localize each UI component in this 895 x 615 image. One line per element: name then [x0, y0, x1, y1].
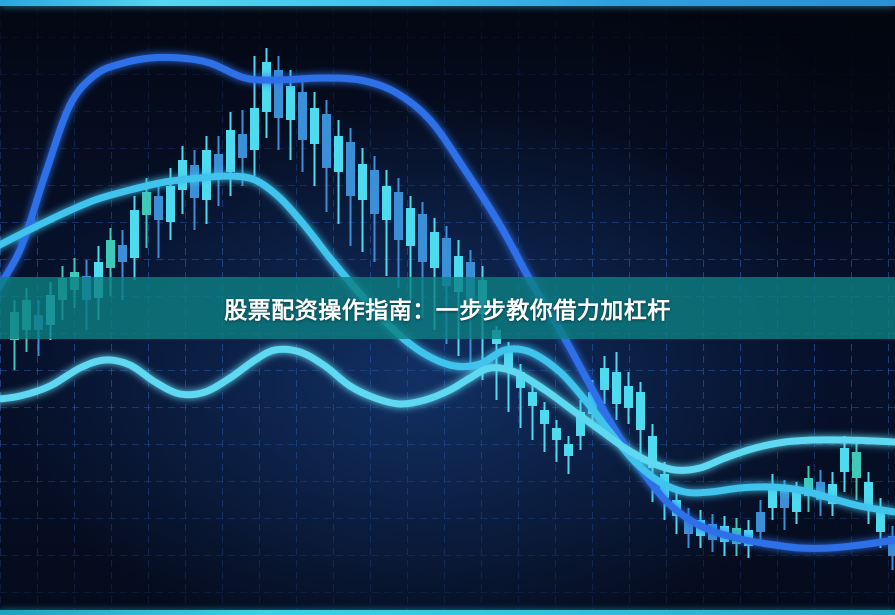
candle-body: [166, 186, 175, 222]
candle-body: [528, 392, 537, 406]
candle-wick: [544, 402, 546, 452]
candle-body: [322, 114, 331, 168]
candle-body: [262, 62, 271, 112]
candle-body: [370, 170, 379, 214]
candle-body: [852, 452, 861, 478]
candle-body: [864, 482, 873, 506]
candle-body: [310, 108, 319, 144]
page-title: 股票配资操作指南：一步步教你借力加杠杆: [224, 291, 671, 325]
candle-body: [600, 368, 609, 390]
candle-body: [792, 492, 801, 512]
candle-body: [840, 448, 849, 472]
candle-body: [118, 245, 127, 262]
candle-body: [238, 134, 247, 158]
candle-body: [106, 240, 115, 268]
candle-body: [624, 386, 633, 408]
candle-body: [358, 164, 367, 200]
candle-body: [178, 160, 187, 190]
candle-body: [130, 210, 139, 258]
title-band: 股票配资操作指南：一步步教你借力加杠杆: [0, 277, 895, 339]
candle-body: [142, 192, 151, 215]
candle-body: [250, 108, 259, 150]
candle-body: [226, 130, 235, 172]
candle-body: [286, 86, 295, 120]
candle-body: [334, 136, 343, 172]
candle-body: [612, 372, 621, 404]
candle-body: [406, 208, 415, 246]
candle-body: [418, 214, 427, 262]
candle-body: [756, 512, 765, 532]
candle-body: [346, 142, 355, 196]
bottom-accent-bar: [0, 610, 895, 615]
candle-body: [540, 410, 549, 424]
top-accent-bar: [0, 0, 895, 6]
candle-body: [780, 490, 789, 508]
candle-body: [430, 232, 439, 268]
candle-body: [382, 186, 391, 220]
candle-body: [564, 444, 573, 456]
candle-wick: [556, 420, 558, 462]
candle-body: [394, 192, 403, 240]
candle-body: [298, 92, 307, 140]
candle-body: [552, 428, 561, 440]
candle-body: [636, 392, 645, 430]
candle-wick: [386, 170, 388, 276]
candle-body: [154, 196, 163, 220]
banner-image: 股票配资操作指南：一步步教你借力加杠杆: [0, 0, 895, 615]
